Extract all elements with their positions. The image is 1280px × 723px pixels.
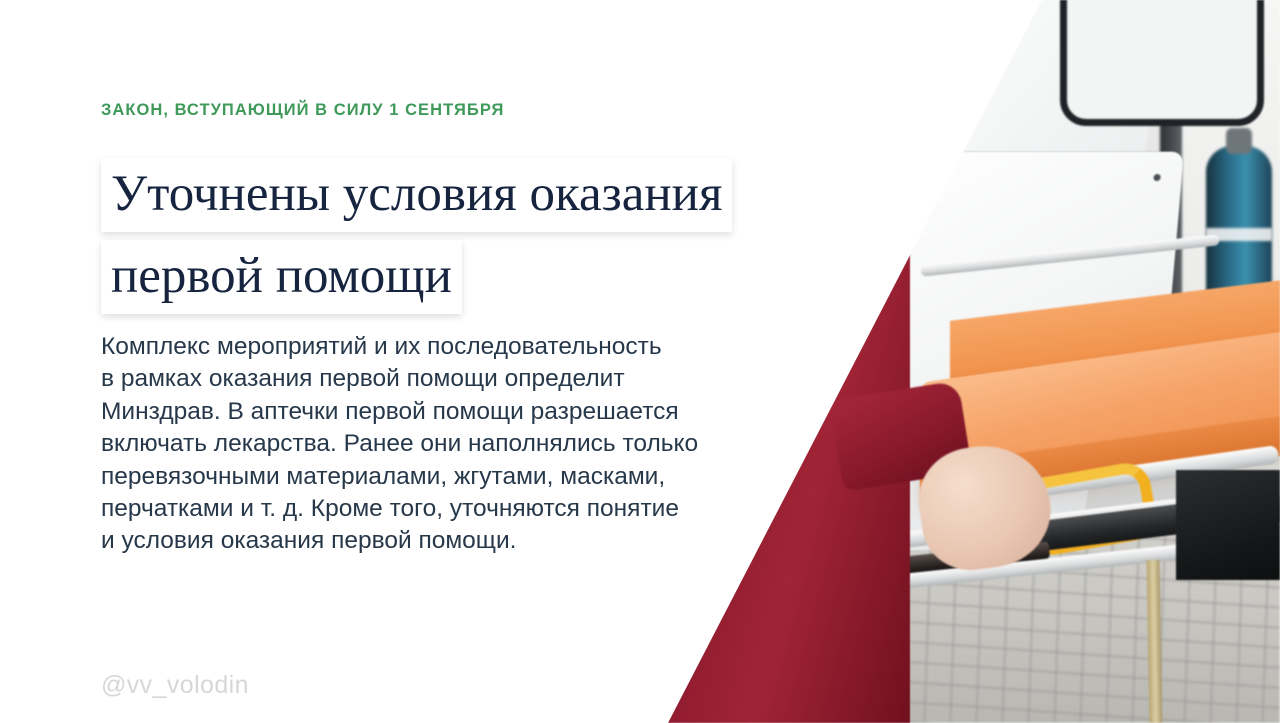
slide-root: ЗАКОН, ВСТУПАЮЩИЙ В СИЛУ 1 СЕНТЯБРЯ Уточ… — [0, 0, 1280, 723]
body-paragraph: Комплекс мероприятий и их последовательн… — [101, 331, 821, 558]
cylinder-valve — [1226, 128, 1252, 154]
eyebrow-kicker: ЗАКОН, ВСТУПАЮЩИЙ В СИЛУ 1 СЕНТЯБРЯ — [101, 101, 504, 120]
rivet — [1153, 174, 1161, 181]
door-window — [1060, 0, 1264, 126]
page-title: Уточнены условия оказания первой помощи — [101, 158, 961, 314]
title-line-1: Уточнены условия оказания — [101, 158, 732, 232]
title-line-2: первой помощи — [101, 240, 462, 314]
watermark-handle: @vv_volodin — [101, 671, 249, 700]
stretcher-black-housing — [1176, 470, 1280, 580]
